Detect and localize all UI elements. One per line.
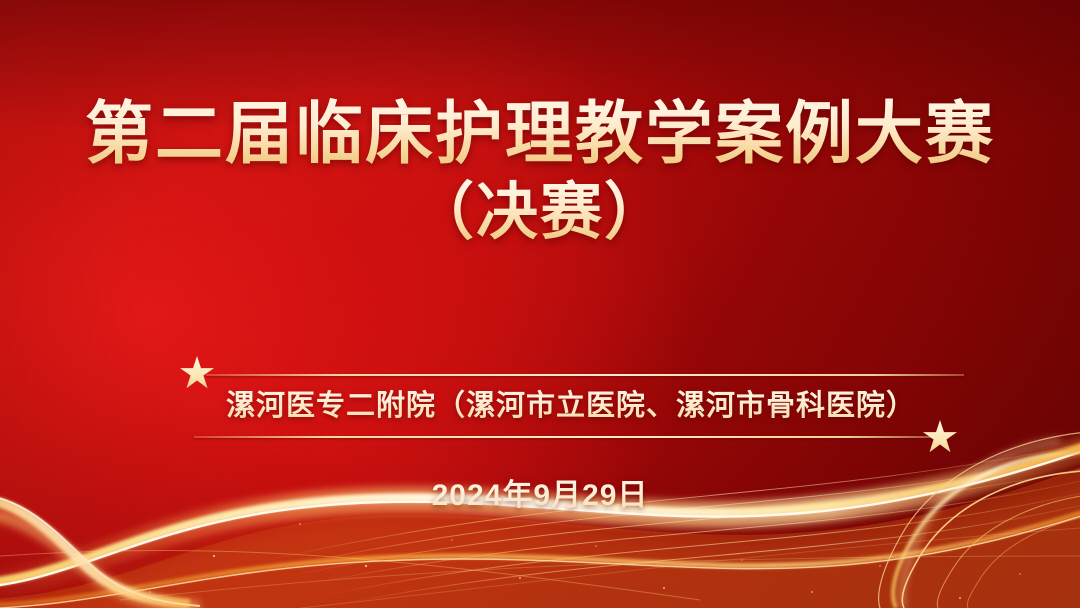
event-title-line1: 第二届临床护理教学案例大赛 bbox=[0, 96, 1080, 172]
slide-canvas: 第二届临床护理教学案例大赛 （决赛） 漯河医专二附院（漯河市立医院、漯河市骨科医… bbox=[0, 0, 1080, 608]
title-block: 第二届临床护理教学案例大赛 （决赛） bbox=[0, 96, 1080, 248]
event-title-line2: （决赛） bbox=[0, 178, 1080, 247]
organization-block: 漯河医专二附院（漯河市立医院、漯河市骨科医院） bbox=[178, 352, 964, 452]
divider-line-top bbox=[206, 374, 964, 376]
divider-line-bottom bbox=[194, 436, 936, 438]
organization-name: 漯河医专二附院（漯河市立医院、漯河市骨科医院） bbox=[178, 382, 964, 424]
slide-content: 第二届临床护理教学案例大赛 （决赛） 漯河医专二附院（漯河市立医院、漯河市骨科医… bbox=[0, 0, 1080, 608]
event-date: 2024年9月29日 bbox=[0, 470, 1080, 514]
